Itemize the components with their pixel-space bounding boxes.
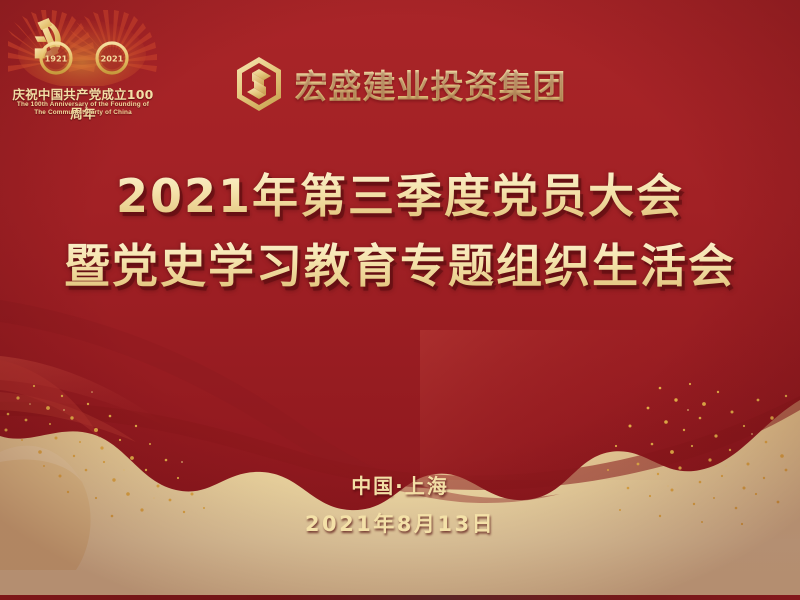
hexagon-monogram-logo-icon [234, 56, 284, 112]
brand-lockup: 宏盛建业投资集团 [0, 56, 800, 112]
poster-canvas: 1921 2021 庆祝中国共产党成立100周年 The 100th Anniv… [0, 0, 800, 600]
headline-line-2: 暨党史学习教育专题组织生活会 [0, 238, 800, 295]
event-location: 中国·上海 [0, 470, 800, 499]
event-footer: 中国·上海 2021年8月13日 [0, 470, 800, 538]
event-date: 2021年8月13日 [0, 508, 800, 538]
page-title: 2021年第三季度党员大会 暨党史学习教育专题组织生活会 [0, 168, 800, 295]
headline-line-1: 2021年第三季度党员大会 [0, 168, 800, 225]
brand-name: 宏盛建业投资集团 [295, 60, 567, 108]
